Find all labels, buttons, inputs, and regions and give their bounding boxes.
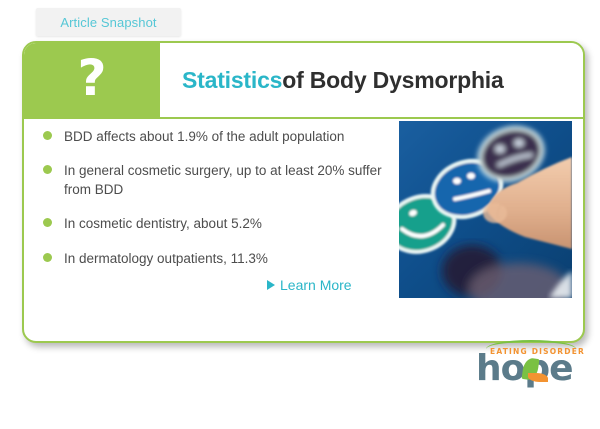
- article-thumbnail-image: [399, 121, 572, 298]
- list-item: BDD affects about 1.9% of the adult popu…: [40, 127, 400, 146]
- card-header: ? Statistics of Body Dysmorphia: [24, 43, 583, 119]
- list-item: In dermatology outpatients, 11.3%: [40, 249, 400, 268]
- list-item: In general cosmetic surgery, up to at le…: [40, 161, 400, 199]
- article-snapshot-card: ? Statistics of Body Dysmorphia BDD affe…: [22, 41, 585, 343]
- list-item: In cosmetic dentistry, about 5.2%: [40, 214, 400, 233]
- article-snapshot-tab-label: Article Snapshot: [60, 15, 156, 30]
- learn-more-link[interactable]: Learn More: [267, 277, 352, 293]
- eating-disorder-hope-logo: EATING DISORDER hope: [476, 346, 584, 392]
- play-arrow-icon: [267, 280, 275, 290]
- learn-more-label: Learn More: [280, 277, 352, 293]
- question-mark-icon: ?: [77, 53, 106, 103]
- card-body: BDD affects about 1.9% of the adult popu…: [24, 119, 583, 343]
- page-title-accent: Statistics: [182, 67, 282, 94]
- question-mark-badge: ?: [24, 43, 160, 117]
- article-snapshot-tab[interactable]: Article Snapshot: [36, 8, 181, 36]
- page-title-rest: of Body Dysmorphia: [282, 67, 503, 94]
- statistics-list: BDD affects about 1.9% of the adult popu…: [40, 127, 400, 283]
- page-title: Statistics of Body Dysmorphia: [160, 43, 583, 117]
